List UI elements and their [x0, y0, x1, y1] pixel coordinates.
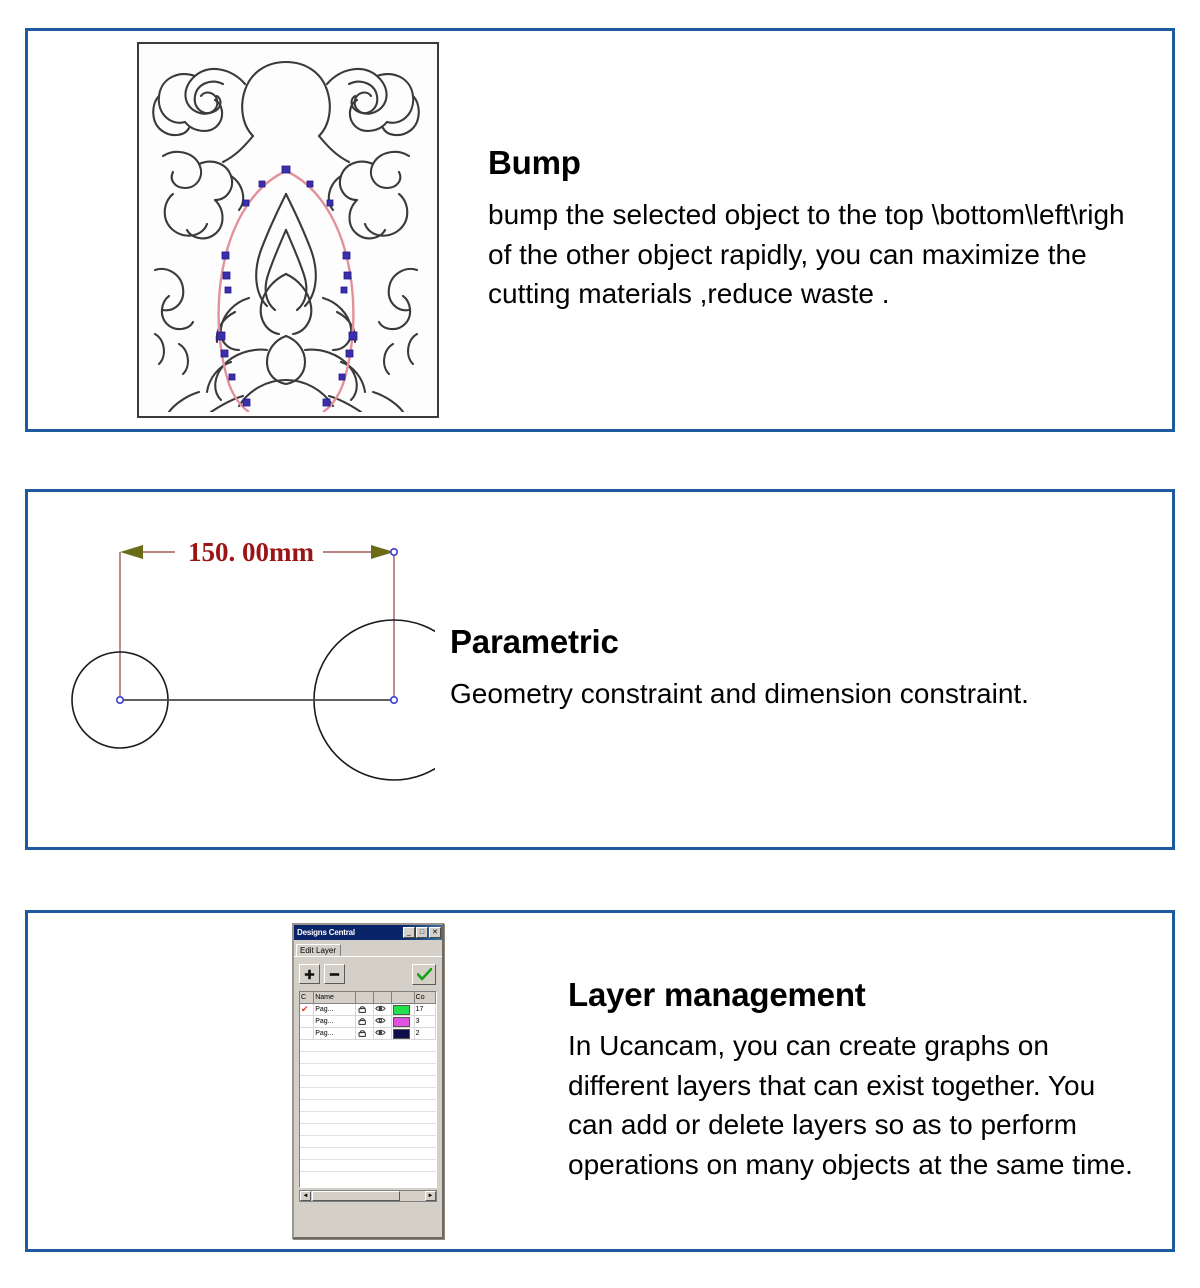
row-visible-cell[interactable] — [374, 1016, 392, 1028]
empty-row — [300, 1088, 436, 1100]
col-header-lock[interactable] — [355, 992, 373, 1004]
row-color-cell[interactable] — [392, 1004, 414, 1016]
eye-icon — [375, 1028, 386, 1037]
path-node-handles — [217, 166, 357, 406]
tab-edit-layer[interactable]: Edit Layer — [296, 944, 341, 956]
window-controls: _ □ ✕ — [403, 927, 441, 938]
window-title-bar[interactable]: Designs Central _ □ ✕ — [294, 925, 442, 940]
row-check-cell[interactable] — [300, 1028, 314, 1040]
row-check-cell[interactable] — [300, 1016, 314, 1028]
row-name-cell[interactable]: Pag... — [314, 1028, 356, 1040]
empty-row — [300, 1064, 436, 1076]
col-header-name[interactable]: Name — [314, 992, 356, 1004]
empty-row — [300, 1052, 436, 1064]
check-icon: ✔ — [301, 1004, 309, 1014]
feature-card-layer-management: Designs Central _ □ ✕ Edit Layer — [25, 910, 1175, 1252]
empty-row — [300, 1160, 436, 1172]
card-body-bump: Bump bump the selected object to the top… — [488, 146, 1172, 313]
ornament-artwork — [139, 44, 433, 412]
layer-grid[interactable]: C Name Co ✔ — [299, 991, 437, 1188]
lock-icon — [357, 1028, 368, 1037]
checkmark-icon — [417, 968, 432, 981]
card-title-bump: Bump — [488, 146, 1144, 181]
feature-card-parametric: 150. 00mm Parametric Geometry constraint… — [25, 489, 1175, 850]
color-swatch — [393, 1017, 410, 1027]
extension-lines — [120, 552, 394, 700]
eye-icon — [375, 1004, 386, 1013]
layer-table-body: ✔ Pag... — [300, 1004, 436, 1040]
layer-toolbar — [294, 957, 442, 991]
minus-icon — [329, 969, 340, 980]
tab-strip: Edit Layer — [294, 940, 442, 957]
plus-icon — [304, 969, 315, 980]
row-lock-cell[interactable] — [355, 1016, 373, 1028]
dimension-label-text: 150. 00mm — [188, 537, 314, 567]
apply-button[interactable] — [412, 964, 436, 985]
scroll-left-arrow-icon[interactable]: ◄ — [300, 1191, 311, 1201]
layer-table: C Name Co ✔ — [300, 992, 436, 1040]
sketch-geometry — [72, 620, 435, 780]
layer-dialog-figure: Designs Central _ □ ✕ Edit Layer — [28, 923, 568, 1239]
page-root: Bump bump the selected object to the top… — [0, 0, 1200, 1288]
maximize-icon[interactable]: □ — [416, 927, 428, 938]
scroll-right-arrow-icon[interactable]: ► — [425, 1191, 436, 1201]
minimize-icon[interactable]: _ — [403, 927, 415, 938]
constraint-nodes — [117, 548, 397, 702]
eye-icon — [375, 1016, 386, 1025]
empty-row — [300, 1112, 436, 1124]
row-count-cell[interactable]: 3 — [414, 1016, 435, 1028]
horizontal-scrollbar[interactable]: ◄ ► — [299, 1190, 437, 1202]
table-row[interactable]: ✔ Pag... — [300, 1004, 436, 1016]
parametric-sketch-artwork: 150. 00mm — [65, 530, 435, 810]
card-title-layer-management: Layer management — [568, 978, 1144, 1013]
color-swatch — [393, 1005, 410, 1015]
empty-row — [300, 1076, 436, 1088]
col-header-color[interactable] — [392, 992, 414, 1004]
col-header-check[interactable]: C — [300, 992, 314, 1004]
row-color-cell[interactable] — [392, 1016, 414, 1028]
feature-card-bump: Bump bump the selected object to the top… — [25, 28, 1175, 432]
row-lock-cell[interactable] — [355, 1028, 373, 1040]
window-title: Designs Central — [297, 928, 403, 937]
remove-layer-button[interactable] — [324, 964, 345, 984]
row-count-cell[interactable]: 17 — [414, 1004, 435, 1016]
layer-table-header: C Name Co — [300, 992, 436, 1004]
col-header-count[interactable]: Co — [414, 992, 435, 1004]
table-header-row: C Name Co — [300, 992, 436, 1004]
row-count-cell[interactable]: 2 — [414, 1028, 435, 1040]
empty-row — [300, 1136, 436, 1148]
row-color-cell[interactable] — [392, 1028, 414, 1040]
card-description-parametric: Geometry constraint and dimension constr… — [450, 674, 1090, 713]
empty-row — [300, 1124, 436, 1136]
close-icon[interactable]: ✕ — [429, 927, 441, 938]
designs-central-window: Designs Central _ □ ✕ Edit Layer — [292, 923, 444, 1239]
ornament-design-figure — [28, 42, 488, 418]
row-visible-cell[interactable] — [374, 1028, 392, 1040]
dimension-arrow-left — [120, 545, 143, 559]
add-layer-button[interactable] — [299, 964, 320, 984]
table-row[interactable]: Pag... — [300, 1016, 436, 1028]
layer-grid-empty-area[interactable] — [300, 1040, 436, 1187]
card-body-parametric: Parametric Geometry constraint and dimen… — [450, 625, 1172, 713]
row-name-cell[interactable]: Pag... — [314, 1016, 356, 1028]
table-row[interactable]: Pag... — [300, 1028, 436, 1040]
lock-icon — [357, 1004, 368, 1013]
design-canvas-frame — [137, 42, 439, 418]
lock-icon — [357, 1016, 368, 1025]
selected-path — [219, 171, 354, 412]
row-visible-cell[interactable] — [374, 1004, 392, 1016]
empty-row — [300, 1040, 436, 1052]
empty-row — [300, 1100, 436, 1112]
row-lock-cell[interactable] — [355, 1004, 373, 1016]
row-check-cell[interactable]: ✔ — [300, 1004, 314, 1016]
col-header-visible[interactable] — [374, 992, 392, 1004]
empty-row — [300, 1148, 436, 1160]
card-description-bump: bump the selected object to the top \bot… — [488, 195, 1128, 313]
row-name-cell[interactable]: Pag... — [314, 1004, 356, 1016]
scrollbar-thumb[interactable] — [312, 1191, 400, 1201]
parametric-sketch-figure: 150. 00mm — [28, 530, 450, 810]
color-swatch — [393, 1029, 410, 1039]
card-body-layer-management: Layer management In Ucancam, you can cre… — [568, 978, 1172, 1185]
card-description-layer-management: In Ucancam, you can create graphs on dif… — [568, 1026, 1144, 1184]
card-title-parametric: Parametric — [450, 625, 1144, 660]
